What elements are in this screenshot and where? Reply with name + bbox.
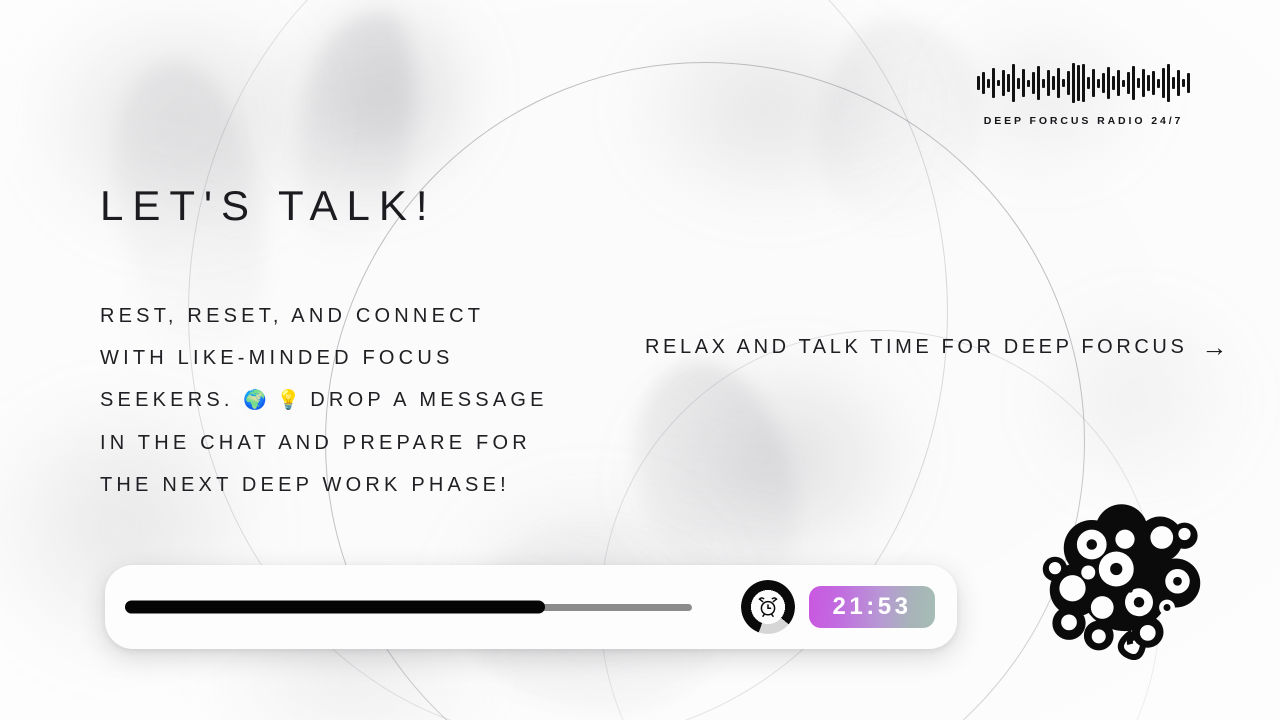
waveform-bar — [977, 76, 980, 90]
waveform-bar — [1122, 80, 1125, 87]
progress-track[interactable] — [125, 604, 692, 611]
waveform-bar — [1167, 64, 1170, 102]
waveform-bar — [1187, 73, 1190, 93]
arrow-right-icon: → — [1201, 334, 1231, 360]
body-line-1: REST, RESET, AND CONNECT — [100, 305, 484, 327]
waveform-bar — [997, 80, 1000, 86]
ink-blob-decoration — [1035, 485, 1215, 660]
body-line-5: THE NEXT DEEP WORK PHASE! — [100, 474, 510, 496]
waveform-bar — [1152, 71, 1155, 95]
globe-icon: 🌍 — [243, 390, 267, 411]
waveform-bar — [1092, 69, 1095, 97]
waveform-bar — [1042, 79, 1045, 88]
body-line-3a: SEEKERS. — [100, 389, 234, 411]
waveform-bar — [1112, 76, 1115, 90]
waveform-bar — [1132, 66, 1135, 100]
body-line-3b: DROP A MESSAGE — [310, 389, 547, 411]
waveform-bar — [1157, 79, 1160, 88]
waveform-bar — [1002, 70, 1005, 96]
waveform-bar — [1102, 73, 1105, 93]
waveform-bar — [1067, 71, 1070, 95]
waveform-bar — [982, 72, 985, 94]
waveform-bar — [1012, 64, 1015, 102]
time-remaining-badge: 21:53 — [809, 586, 935, 628]
waveform-bar — [1142, 69, 1145, 97]
waveform-bar — [1177, 70, 1180, 96]
lightbulb-icon: 💡 — [277, 390, 301, 411]
waveform-bar — [987, 79, 990, 88]
waveform-bar — [1072, 63, 1075, 103]
waveform-bar — [1137, 78, 1140, 88]
waveform-bar — [1107, 67, 1110, 99]
waveform-bar — [1037, 66, 1040, 100]
brand-caption: DEEP FORCUS RADIO 24/7 — [984, 115, 1184, 127]
waveform-bar — [1032, 72, 1035, 94]
waveform-bar — [1007, 74, 1010, 92]
waveform-bar — [1172, 77, 1175, 89]
waveform-bar — [1057, 68, 1060, 98]
body-line-2: WITH LIKE-MINDED FOCUS — [100, 347, 454, 369]
progress-slider[interactable] — [125, 597, 729, 617]
waveform-bar — [1097, 79, 1100, 88]
waveform-bar — [1082, 64, 1085, 102]
waveform-bar — [1182, 79, 1185, 87]
waveform-bar — [1147, 75, 1150, 91]
waveform-bar — [1052, 76, 1055, 90]
waveform-bar — [1022, 69, 1025, 97]
waveform-bar — [1077, 65, 1080, 101]
brand-logo: DEEP FORCUS RADIO 24/7 — [977, 60, 1190, 127]
session-tagline[interactable]: RELAX AND TALK TIME FOR DEEP FORCUS → — [645, 334, 1231, 360]
waveform-bar — [1127, 72, 1130, 94]
waveform-bar — [1017, 78, 1020, 89]
waveform-bar — [1087, 77, 1090, 89]
waveform-bar — [992, 68, 995, 98]
body-paragraph: REST, RESET, AND CONNECT WITH LIKE-MINDE… — [100, 295, 570, 506]
alarm-clock-icon[interactable] — [741, 580, 795, 634]
waveform-bar — [1062, 79, 1065, 87]
waveform-bar — [1047, 70, 1050, 96]
progress-fill — [125, 601, 545, 614]
waveform-bar — [1162, 68, 1165, 98]
page-title: LET'S TALK! — [100, 182, 437, 230]
waveform-bar — [1027, 80, 1030, 87]
audio-waveform-icon — [977, 60, 1190, 106]
poster-canvas: DEEP FORCUS RADIO 24/7 LET'S TALK! REST,… — [0, 0, 1280, 720]
waveform-bar — [1117, 70, 1120, 96]
body-line-4: IN THE CHAT AND PREPARE FOR — [100, 432, 531, 454]
media-player-bar: 21:53 — [105, 565, 957, 649]
session-tagline-label: RELAX AND TALK TIME FOR DEEP FORCUS — [645, 336, 1187, 359]
